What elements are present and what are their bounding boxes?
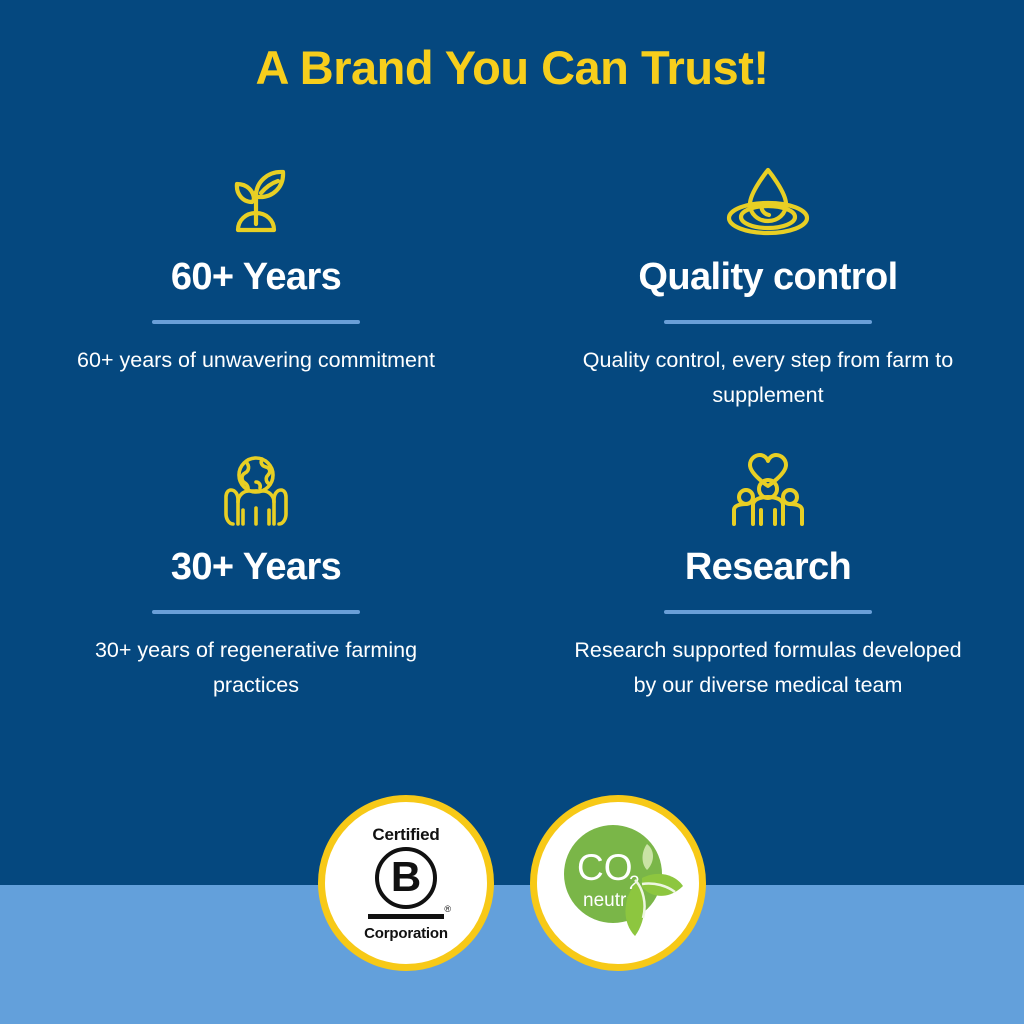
svg-text:CO: CO — [577, 847, 633, 888]
feature-description: Quality control, every step from farm to… — [568, 343, 968, 413]
feature-card-research: Research Research supported formulas dev… — [512, 450, 1024, 740]
b-corp-certified-label: Certified — [372, 826, 439, 843]
people-heart-icon — [726, 450, 810, 534]
b-corp-letter: B — [375, 847, 437, 909]
certification-badges: Certified B ® Corporation CO 2 neutral — [0, 795, 1024, 971]
feature-card-quality-control: Quality control Quality control, every s… — [512, 160, 1024, 450]
feature-card-years-60: 60+ Years 60+ years of unwavering commit… — [0, 160, 512, 450]
feature-description: Research supported formulas developed by… — [568, 633, 968, 703]
b-corp-bar — [368, 914, 444, 919]
feature-divider — [152, 610, 360, 614]
feature-card-years-30: 30+ Years 30+ years of regenerative farm… — [0, 450, 512, 740]
page-title: A Brand You Can Trust! — [0, 42, 1024, 94]
sprout-icon — [216, 160, 296, 244]
feature-description: 60+ years of unwavering commitment — [77, 343, 435, 378]
b-corp-badge-icon: Certified B ® Corporation — [318, 795, 494, 971]
feature-divider — [152, 320, 360, 324]
feature-divider — [664, 320, 872, 324]
promo-graphic: A Brand You Can Trust! 60+ Years 60+ yea… — [0, 0, 1024, 1024]
feature-grid: 60+ Years 60+ years of unwavering commit… — [0, 160, 1024, 740]
b-corp-rule: ® — [368, 914, 444, 919]
feature-divider — [664, 610, 872, 614]
feature-description: 30+ years of regenerative farming practi… — [66, 633, 446, 703]
feature-title: 30+ Years — [171, 548, 341, 588]
feature-title: 60+ Years — [171, 258, 341, 298]
co2-neutral-badge-icon: CO 2 neutral — [530, 795, 706, 971]
co2-neutral-artwork: CO 2 neutral — [543, 808, 693, 958]
water-droplet-icon — [726, 160, 810, 244]
feature-title: Research — [685, 548, 851, 588]
b-corp-corporation-label: Corporation — [364, 926, 448, 941]
registered-trademark-icon: ® — [444, 905, 451, 914]
hands-holding-globe-icon — [216, 450, 296, 534]
feature-title: Quality control — [638, 258, 897, 298]
